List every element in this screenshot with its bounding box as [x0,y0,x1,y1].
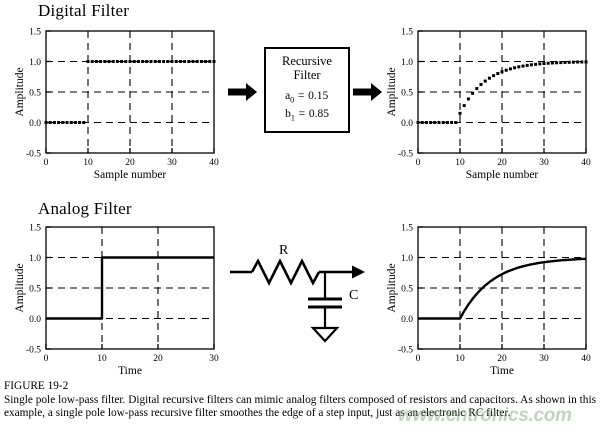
y-axis-title: Amplitude [386,31,398,153]
capacitor-label: C [349,288,358,304]
svg-text:1.0: 1.0 [401,58,413,68]
figure-number: FIGURE 19-2 [4,380,596,394]
figure-caption-text: Single pole low-pass filter. Digital rec… [4,394,596,420]
svg-text:10: 10 [455,354,465,364]
svg-text:0: 0 [44,158,49,168]
y-axis-title: Amplitude [14,227,26,349]
resistor-label: R [279,243,288,259]
analog-filter-title: Analog Filter [38,199,132,219]
svg-text:1.5: 1.5 [401,27,413,37]
svg-text:20: 20 [497,354,507,364]
svg-text:1.0: 1.0 [401,254,413,264]
svg-text:0.5: 0.5 [29,88,41,98]
svg-text:1.0: 1.0 [29,254,41,264]
svg-text:0.5: 0.5 [401,88,413,98]
coefficient-a0-equals: = [294,89,308,103]
svg-text:10: 10 [97,354,107,364]
chart-digital-input: -0.50.00.51.01.5010203040Sample numberAm… [12,26,227,191]
svg-text:40: 40 [581,354,591,364]
svg-text:30: 30 [539,158,549,168]
svg-text:10: 10 [455,158,465,168]
svg-text:0.0: 0.0 [29,315,41,325]
svg-text:30: 30 [209,354,219,364]
svg-text:-0.5: -0.5 [398,345,413,355]
svg-text:1.0: 1.0 [29,58,41,68]
svg-text:0: 0 [44,354,49,364]
svg-text:-0.5: -0.5 [398,149,413,159]
figure-caption-block: FIGURE 19-2 Single pole low-pass filter.… [4,380,596,421]
coefficient-b1-equals: = [295,107,309,121]
svg-text:0.0: 0.0 [401,315,413,325]
chart-analog-input: -0.50.00.51.01.50102030TimeAmplitude [12,222,227,387]
input-arrow-icon [228,82,258,107]
svg-text:20: 20 [497,158,507,168]
svg-text:30: 30 [539,354,549,364]
y-axis-title: Amplitude [14,31,26,153]
svg-text:40: 40 [581,158,591,168]
coefficient-a0-value: 0.15 [308,90,328,102]
svg-text:0.5: 0.5 [29,284,41,294]
recursive-filter-box: Recursive Filter a0=0.15 b1=0.85 [264,47,350,133]
filter-coefficients: a0=0.15 b1=0.85 [285,89,329,126]
svg-text:40: 40 [209,158,219,168]
rc-circuit-diagram [228,245,368,360]
coefficient-b1-value: 0.85 [309,108,329,120]
svg-text:0: 0 [416,354,421,364]
svg-text:10: 10 [83,158,93,168]
svg-text:1.5: 1.5 [401,223,413,233]
digital-filter-title: Digital Filter [38,1,129,21]
svg-text:0.0: 0.0 [401,119,413,129]
x-axis-title: Time [418,365,586,377]
chart-digital-output: -0.50.00.51.01.5010203040Sample numberAm… [384,26,599,191]
x-axis-title: Sample number [46,169,214,181]
filter-box-title-line1: Recursive [266,54,348,68]
svg-text:0: 0 [416,158,421,168]
svg-text:-0.5: -0.5 [26,149,41,159]
svg-text:20: 20 [125,158,135,168]
coefficient-a0: a0=0.15 [285,89,329,107]
svg-text:-0.5: -0.5 [26,345,41,355]
svg-text:0.0: 0.0 [29,119,41,129]
svg-text:30: 30 [167,158,177,168]
svg-text:1.5: 1.5 [29,27,41,37]
svg-text:0.5: 0.5 [401,284,413,294]
x-axis-title: Sample number [418,169,586,181]
svg-text:20: 20 [153,354,163,364]
filter-box-title-line2: Filter [266,68,348,82]
coefficient-b1: b1=0.85 [285,107,329,125]
chart-analog-output: -0.50.00.51.01.5010203040TimeAmplitude [384,222,599,387]
output-arrow-icon [353,82,383,107]
y-axis-title: Amplitude [386,227,398,349]
x-axis-title: Time [46,365,214,377]
svg-text:1.5: 1.5 [29,223,41,233]
